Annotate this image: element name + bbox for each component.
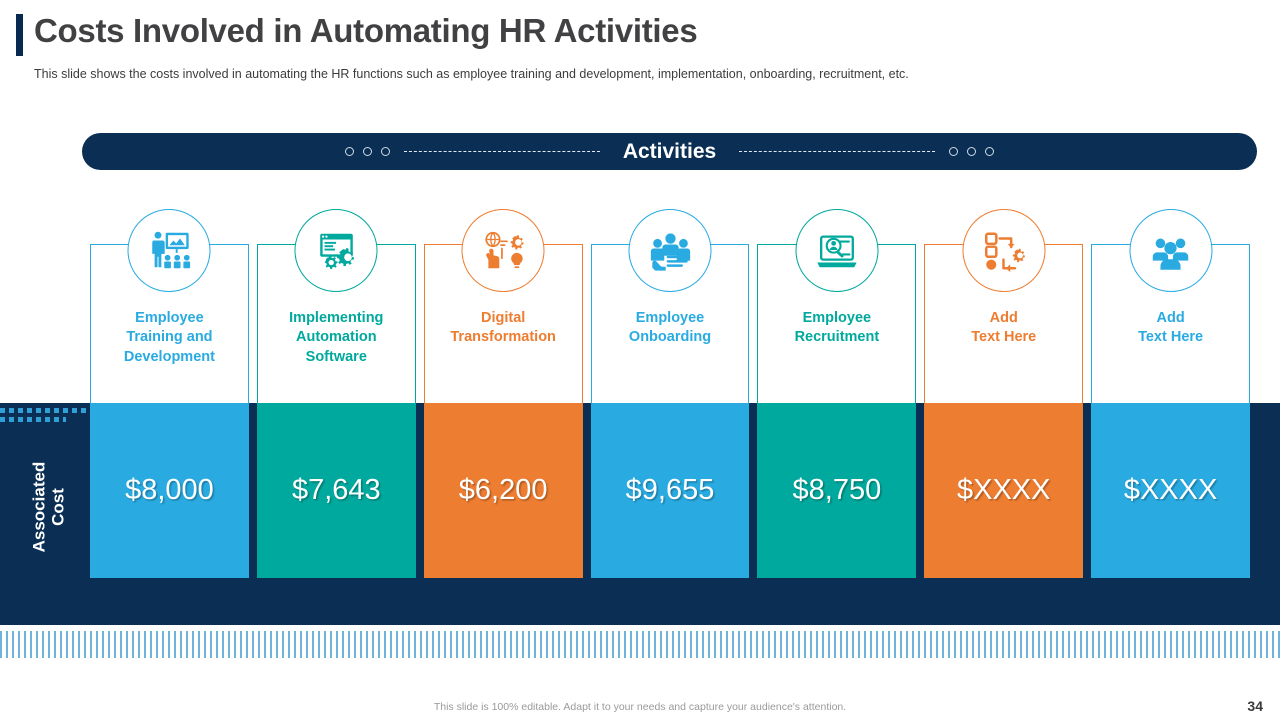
circle-icon [345, 147, 354, 156]
activity-cost: $9,655 [591, 403, 750, 578]
activity-cost: $8,750 [757, 403, 916, 578]
activity-column[interactable]: Employee Training and Development$8,000 [90, 244, 249, 578]
activity-columns: Employee Training and Development$8,000I… [90, 244, 1250, 578]
title-accent-bar [16, 14, 23, 56]
activity-label: Employee Onboarding [598, 309, 743, 348]
activity-label: Add Text Here [931, 309, 1076, 348]
activity-label: Employee Recruitment [764, 309, 909, 348]
training-presentation-icon [128, 209, 211, 292]
activity-column[interactable]: Employee Onboarding$9,655 [591, 244, 750, 578]
activity-card[interactable]: Add Text Here [1091, 244, 1250, 403]
activity-cost: $XXXX [1091, 403, 1250, 578]
activities-banner: Activities [82, 133, 1257, 170]
footer-note: This slide is 100% editable. Adapt it to… [0, 701, 1280, 713]
circle-icon [967, 147, 976, 156]
workflow-process-icon [962, 209, 1045, 292]
activity-cost: $8,000 [90, 403, 249, 578]
dashed-decoration [0, 405, 92, 427]
striped-footer-band [0, 631, 1280, 658]
activity-cost: $XXXX [924, 403, 1083, 578]
slide-root: Costs Involved in Automating HR Activiti… [0, 0, 1280, 720]
dashed-line-right [739, 151, 935, 152]
circle-icon [985, 147, 994, 156]
activity-label: Digital Transformation [431, 309, 576, 348]
banner-dots-right [949, 147, 994, 156]
circle-icon [949, 147, 958, 156]
activity-card[interactable]: Employee Onboarding [591, 244, 750, 403]
circle-icon [363, 147, 372, 156]
activity-column[interactable]: Implementing Automation Software$7,643 [257, 244, 416, 578]
activity-column[interactable]: Employee Recruitment$8,750 [757, 244, 916, 578]
page-title: Costs Involved in Automating HR Activiti… [34, 12, 697, 50]
activity-card[interactable]: Add Text Here [924, 244, 1083, 403]
dash-row [0, 408, 90, 413]
activity-card[interactable]: Implementing Automation Software [257, 244, 416, 403]
banner-title: Activities [614, 140, 725, 164]
activity-card[interactable]: Employee Recruitment [757, 244, 916, 403]
banner-content: Activities [345, 140, 994, 164]
onboarding-team-icon [629, 209, 712, 292]
activity-cost: $6,200 [424, 403, 583, 578]
activity-column[interactable]: Add Text Here$XXXX [924, 244, 1083, 578]
digital-transformation-icon [462, 209, 545, 292]
banner-dots-left [345, 147, 390, 156]
activity-label: Employee Training and Development [97, 309, 242, 367]
associated-cost-line2: Cost [48, 462, 67, 553]
page-number: 34 [1247, 698, 1263, 714]
activity-card[interactable]: Digital Transformation [424, 244, 583, 403]
recruitment-laptop-search-icon [795, 209, 878, 292]
dashed-line-left [404, 151, 600, 152]
activity-label: Implementing Automation Software [264, 309, 409, 367]
activity-label: Add Text Here [1098, 309, 1243, 348]
circle-icon [381, 147, 390, 156]
activity-column[interactable]: Add Text Here$XXXX [1091, 244, 1250, 578]
dash-row [0, 417, 66, 422]
activity-card[interactable]: Employee Training and Development [90, 244, 249, 403]
associated-cost-line1: Associated [29, 462, 48, 553]
people-group-icon [1129, 209, 1212, 292]
page-subtitle: This slide shows the costs involved in a… [34, 67, 909, 81]
software-gears-icon [295, 209, 378, 292]
activity-column[interactable]: Digital Transformation$6,200 [424, 244, 583, 578]
associated-cost-label: Associated Cost [8, 425, 88, 590]
activity-cost: $7,643 [257, 403, 416, 578]
